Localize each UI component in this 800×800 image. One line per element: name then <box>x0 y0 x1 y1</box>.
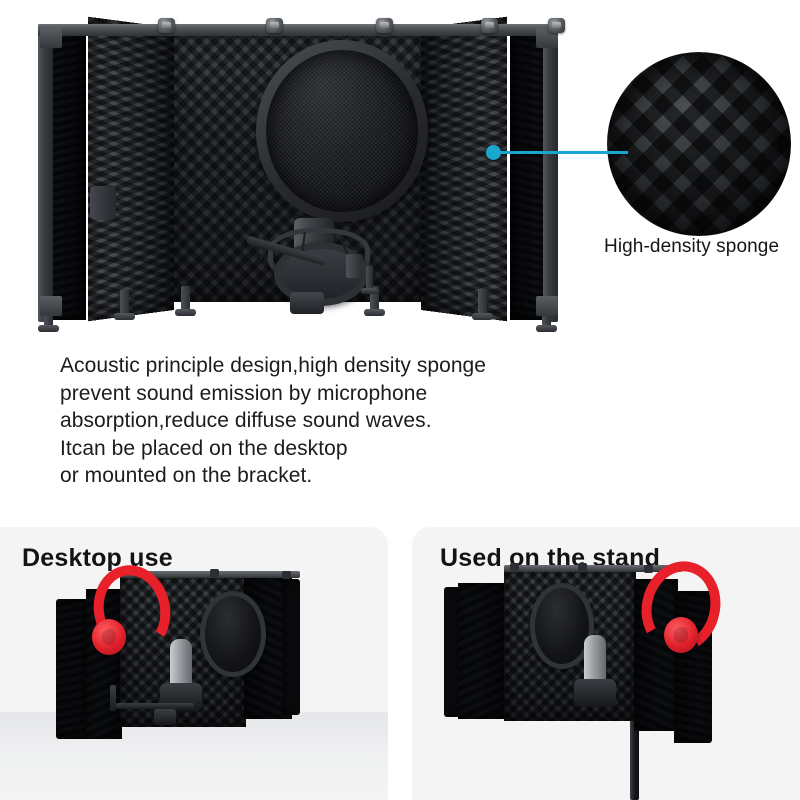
description-line-1: Acoustic principle design,high density s… <box>60 352 580 380</box>
mini-hinge-3 <box>644 565 653 573</box>
description-line-4: Itcan be placed on the desktop <box>60 435 580 463</box>
foam-panel-left-inner <box>88 17 174 322</box>
mount-base <box>290 292 324 314</box>
product-infographic: High-density sponge Acoustic principle d… <box>0 0 800 800</box>
foam-panel-right-inner <box>421 17 507 322</box>
mini-hinge-1 <box>510 563 519 571</box>
hinge-bolt-5 <box>548 18 565 33</box>
mount-post <box>366 266 373 290</box>
isolation-shield-product-image <box>18 14 578 324</box>
pop-filter-mesh <box>266 50 418 212</box>
mini-foam-panel-left-inner <box>458 583 506 719</box>
hero-section: High-density sponge <box>0 0 800 340</box>
headphone-cup-stand <box>664 617 698 653</box>
usecase-card-stand: Used on the stand <box>412 527 800 800</box>
mini-hinge-2 <box>578 563 587 571</box>
description-line-3: absorption,reduce diffuse sound waves. <box>60 407 580 435</box>
shield-foot-3 <box>181 286 190 312</box>
description-line-2: prevent sound emission by microphone <box>60 380 580 408</box>
mini-microphone <box>584 635 606 683</box>
pop-filter-neck <box>90 186 116 220</box>
mini-top-rail <box>504 565 682 572</box>
mini-shock-mount <box>574 679 616 707</box>
pop-filter <box>256 40 428 222</box>
mini-hinge-3 <box>282 571 291 579</box>
callout-leader-line <box>498 151 628 154</box>
mini-foam-panel-left-outer <box>56 599 90 739</box>
mini-mount-arm <box>116 703 194 709</box>
description-line-5: or mounted on the bracket. <box>60 462 580 490</box>
mini-mount-foot <box>154 709 176 725</box>
top-rail <box>38 24 558 36</box>
usecase-card-desktop: Desktop use <box>0 527 388 800</box>
shield-foot-5 <box>478 290 487 316</box>
shield-foot-2 <box>120 290 129 316</box>
microphone-shock-mount-assembly <box>250 210 380 320</box>
frame-spine-right <box>543 26 558 322</box>
frame-spine-left <box>38 26 53 322</box>
hinge-bolt-4 <box>481 18 498 33</box>
mini-mount-upright <box>110 685 116 711</box>
high-density-sponge-label: High-density sponge <box>604 236 800 258</box>
mount-clamp <box>346 254 362 278</box>
callout-anchor-dot <box>486 145 501 160</box>
hinge-bolt-3 <box>376 18 393 33</box>
corner-bracket-top-left <box>40 28 62 48</box>
mini-pop-filter <box>200 591 266 677</box>
hinge-bolt-1 <box>158 18 175 33</box>
mini-foam-panel-right-outer <box>282 579 300 715</box>
headphone-cup-desktop <box>92 619 126 655</box>
high-density-sponge-detail-circle <box>607 52 791 236</box>
usecase-title-desktop: Desktop use <box>22 544 173 573</box>
hinge-bolt-2 <box>266 18 283 33</box>
corner-bracket-bottom-right <box>536 296 558 316</box>
mini-microphone <box>170 639 192 687</box>
corner-bracket-bottom-left <box>40 296 62 316</box>
mini-hinge-2 <box>210 569 219 577</box>
product-description: Acoustic principle design,high density s… <box>60 352 580 490</box>
